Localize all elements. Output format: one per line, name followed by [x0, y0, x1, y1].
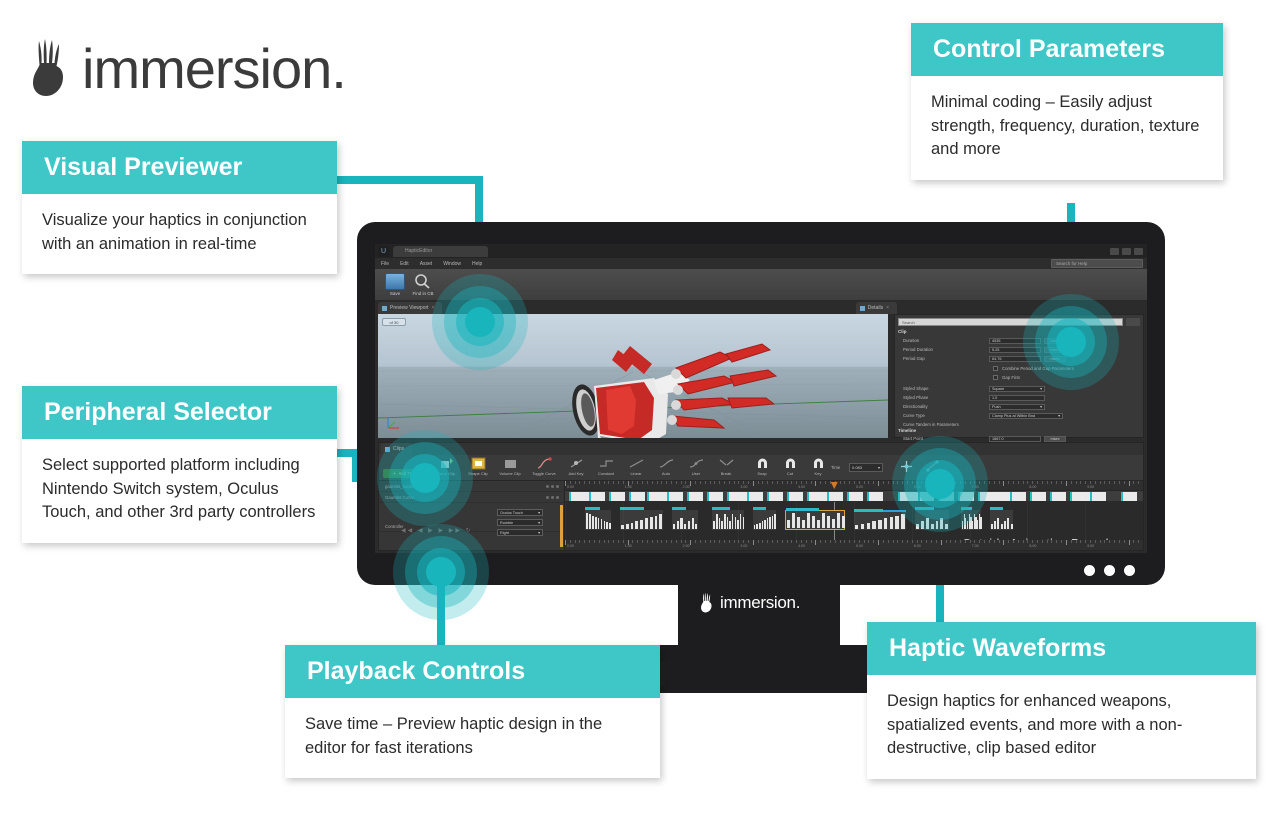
- track-combo-effect-value: Rumble: [500, 521, 513, 525]
- details-row-curve-type[interactable]: Curve Type Clamp Plus at Within Bnd ▾: [903, 412, 1139, 419]
- brand-wordmark: immersion.: [82, 41, 346, 97]
- timeline-event-marker[interactable]: [787, 492, 803, 501]
- ruler-tick: [888, 540, 889, 543]
- waveform-bar: [640, 520, 643, 529]
- ruler-tick: [637, 540, 638, 543]
- timeline-waveform-canvas[interactable]: Outside Animation Bounds: [565, 502, 1143, 540]
- track-options-icon[interactable]: [546, 496, 559, 499]
- ruler-tick: [589, 481, 590, 484]
- timeline-panel[interactable]: Clips ＋ Add Track Event Clip S: [378, 442, 1144, 551]
- ruler-tick: [710, 540, 711, 543]
- ruler-label: 2.00: [683, 544, 690, 548]
- menu-file[interactable]: File: [381, 261, 389, 267]
- waveform-bar: [756, 524, 758, 529]
- ruler-tick: [676, 481, 677, 484]
- tool-auto[interactable]: Auto: [651, 457, 681, 476]
- track-combo-effect[interactable]: Rumble ▾: [497, 519, 543, 526]
- waveform-bar: [994, 521, 996, 529]
- waveform-bar: [772, 516, 774, 529]
- combine-checkbox[interactable]: [993, 366, 998, 371]
- timeline-clip[interactable]: [854, 510, 906, 530]
- clip-accent: [786, 508, 819, 511]
- waveform-bar: [729, 521, 731, 529]
- ruler-tick: [868, 540, 869, 543]
- ruler-tick: [854, 481, 855, 484]
- ruler-tick: [811, 481, 812, 484]
- waveform-bar: [740, 514, 742, 529]
- timeline-event-marker[interactable]: [589, 492, 605, 501]
- track-combo-side[interactable]: Right ▾: [497, 529, 543, 536]
- tool-toggle-curve-label: Toggle Curve: [529, 471, 559, 476]
- ruler-tick: [1076, 481, 1077, 484]
- tool-constant[interactable]: Constant: [591, 457, 621, 476]
- ruler-tick: [1104, 540, 1105, 543]
- ruler-label: 3.00: [740, 544, 747, 548]
- playback-controls-marker[interactable]: [393, 524, 489, 620]
- ruler-tick: [994, 540, 995, 543]
- timeline-clip[interactable]: [990, 510, 1013, 530]
- tool-auto-label: Auto: [651, 471, 681, 476]
- details-value-start-point[interactable]: 1667.0: [989, 436, 1041, 442]
- time-value-input[interactable]: 0.083 ▾: [849, 463, 883, 472]
- tool-linear[interactable]: Linear: [621, 457, 651, 476]
- ruler-tick: [608, 481, 609, 484]
- details-label-curve-type: Curve Type: [903, 413, 989, 418]
- magnifier-icon: [413, 273, 433, 290]
- timeline-ruler-top[interactable]: 0.001.002.003.004.005.006.007.008.009.00: [565, 481, 1143, 491]
- waveform-bar: [713, 521, 715, 529]
- user-icon: [689, 457, 704, 470]
- ruler-tick: [873, 481, 874, 484]
- tool-break[interactable]: Break: [711, 457, 741, 476]
- peripheral-selector-marker[interactable]: [377, 430, 473, 526]
- ruler-tick: [710, 481, 711, 484]
- ruler-tick: [623, 540, 624, 543]
- ruler-tick: [1042, 481, 1043, 484]
- constant-icon: [599, 457, 614, 470]
- ruler-label: 4.00: [798, 485, 805, 489]
- details-combo-styled-shape[interactable]: Square ▾: [989, 386, 1045, 392]
- ruler-tick: [1109, 481, 1110, 484]
- waveform-bar: [812, 516, 815, 527]
- waveform-bar: [822, 513, 825, 528]
- ruler-tick: [1023, 481, 1024, 484]
- timeline-event-marker[interactable]: [629, 492, 645, 501]
- waveform-bar: [626, 524, 629, 529]
- waveform-bar: [1001, 524, 1003, 528]
- ruler-tick: [1018, 540, 1019, 543]
- ruler-tick: [652, 540, 653, 543]
- details-row-curve-tandem[interactable]: Curve Tandem in Parameters: [903, 421, 1139, 428]
- timeline-event-marker[interactable]: [1121, 492, 1137, 501]
- details-section-timeline[interactable]: Timeline: [898, 428, 916, 433]
- ruler-tick: [729, 481, 730, 484]
- tool-key[interactable]: Key: [803, 457, 833, 476]
- timeline-event-marker[interactable]: [1030, 492, 1046, 501]
- ruler-tick: [801, 540, 802, 543]
- ruler-tick: [1114, 481, 1115, 484]
- timeline-event-marker[interactable]: [747, 492, 763, 501]
- ruler-tick: [1085, 540, 1086, 543]
- waveform-bar: [764, 520, 766, 529]
- menu-asset[interactable]: Asset: [420, 261, 433, 267]
- canvas-gridline: [1085, 502, 1086, 540]
- ruler-tick: [613, 540, 614, 543]
- ruler-tick: [657, 481, 658, 484]
- ruler-tick: [782, 540, 783, 543]
- ruler-tick: [666, 481, 667, 484]
- track-accent-bar: [560, 505, 563, 547]
- ruler-label: 8.00: [1029, 544, 1036, 548]
- details-options-icon[interactable]: [1126, 318, 1140, 326]
- close-icon[interactable]: [1134, 248, 1143, 255]
- ruler-label: 6.00: [914, 544, 921, 548]
- haptic-waveforms-marker[interactable]: [892, 436, 988, 532]
- stand-brand-logo: immersion.: [700, 592, 800, 614]
- tool-volume-clip-label: Volume Clip: [495, 471, 525, 476]
- details-section-clip[interactable]: Clip: [898, 329, 907, 334]
- ruler-tick: [1133, 481, 1134, 484]
- ruler-tick: [1037, 481, 1038, 484]
- ruler-tick: [873, 540, 874, 543]
- waveform-bar: [724, 514, 726, 529]
- ruler-tick: [1095, 540, 1096, 543]
- waveform-bar: [842, 516, 845, 528]
- ruler-label: 8.00: [1029, 485, 1036, 489]
- details-value-styled-phase[interactable]: 1.0: [989, 395, 1045, 401]
- ruler-tick: [1008, 481, 1009, 484]
- ruler-tick: [1071, 540, 1072, 543]
- ruler-tick: [671, 540, 672, 543]
- ruler-tick: [787, 540, 788, 543]
- editor-document-tab[interactable]: HapticEditor: [393, 246, 488, 257]
- waveform-bar: [601, 519, 603, 528]
- ruler-tick: [1085, 481, 1086, 484]
- ruler-label: 9.00: [1087, 544, 1094, 548]
- tool-cut-label: Cut: [775, 471, 805, 476]
- shape-clip-icon: [471, 457, 486, 470]
- viewport-axis-gizmo: [386, 414, 402, 430]
- ruler-tick: [1023, 540, 1024, 543]
- tool-linear-label: Linear: [621, 471, 651, 476]
- menu-edit[interactable]: Edit: [400, 261, 409, 267]
- waveform-bar: [606, 522, 608, 529]
- ruler-tick: [758, 540, 759, 543]
- ruler-tick: [897, 540, 898, 543]
- chevron-down-icon: ▾: [538, 530, 540, 535]
- ruler-tick: [575, 481, 576, 484]
- waveform-bar: [688, 521, 690, 529]
- ruler-tick: [1051, 540, 1052, 543]
- details-row-styled-phase[interactable]: Styled Phase 1.0: [903, 394, 1139, 401]
- viewport-tab-icon: [382, 306, 387, 311]
- timeline-toolbar: ＋ Add Track Event Clip Shape Clip: [379, 455, 1143, 481]
- details-row-directionality[interactable]: Directionality Push ▾: [903, 403, 1139, 410]
- timeline-event-marker[interactable]: [667, 492, 683, 501]
- ruler-label: 2.00: [683, 485, 690, 489]
- timeline-event-row[interactable]: [565, 491, 1143, 502]
- ruler-tick: [994, 481, 995, 484]
- details-label-period-duration: Period Duration: [903, 347, 989, 352]
- tool-volume-clip[interactable]: Volume Clip: [495, 457, 525, 476]
- canvas-gridline: [796, 502, 797, 540]
- ruler-tick: [1104, 481, 1105, 484]
- ruler-tick: [681, 540, 682, 543]
- ruler-tick: [599, 481, 600, 484]
- control-parameters-marker[interactable]: [1023, 294, 1119, 390]
- ruler-tick: [753, 481, 754, 486]
- tool-add-key[interactable]: Add Key: [561, 457, 591, 476]
- waveform-bar: [589, 514, 591, 528]
- waveform-bar: [1011, 524, 1013, 528]
- details-combo-directionality[interactable]: Push ▾: [989, 404, 1045, 410]
- save-icon: [385, 273, 405, 290]
- details-tab-close-icon[interactable]: ×: [886, 305, 889, 311]
- magnet-snap-icon: [755, 457, 770, 470]
- waveform-bar: [673, 524, 675, 528]
- waveform-bar: [1004, 521, 1006, 529]
- tool-snap-label: Snap: [747, 471, 777, 476]
- ruler-label: 1.00: [625, 544, 632, 548]
- minimize-icon[interactable]: [1110, 248, 1119, 255]
- gapfirst-checkbox[interactable]: [993, 375, 998, 380]
- ruler-label: 7.00: [972, 544, 979, 548]
- ruler-tick: [840, 540, 841, 543]
- ruler-tick: [1119, 481, 1120, 484]
- ruler-tick: [1066, 481, 1067, 486]
- hand-flame-icon: [700, 592, 714, 614]
- track-options-icon[interactable]: [546, 485, 559, 488]
- ruler-tick: [864, 481, 865, 484]
- ruler-tick: [999, 540, 1000, 543]
- toolbar-save-button[interactable]: Save: [383, 273, 407, 296]
- hand-flame-icon: [30, 38, 70, 100]
- stand-brand-wordmark: immersion.: [720, 593, 800, 613]
- ruler-tick: [883, 481, 884, 484]
- ruler-tick: [1124, 540, 1125, 543]
- timeline-event-marker[interactable]: [1050, 492, 1066, 501]
- canvas-gridline: [623, 502, 624, 540]
- timeline-clip[interactable]: [672, 510, 698, 530]
- tool-user-label: User: [681, 471, 711, 476]
- window-buttons[interactable]: [1110, 248, 1147, 255]
- waveform-bar: [650, 517, 653, 529]
- ruler-tick: [623, 481, 624, 484]
- callout-visual-previewer: Visual Previewer Visualize your haptics …: [22, 141, 337, 274]
- ruler-label: 4.00: [798, 544, 805, 548]
- timeline-event-marker[interactable]: [867, 492, 883, 501]
- ruler-tick: [767, 481, 768, 484]
- ruler-tick: [570, 481, 571, 484]
- ruler-tick: [844, 481, 845, 484]
- callout-haptic-waveforms-title: Haptic Waveforms: [867, 622, 1256, 675]
- waveform-bar: [604, 521, 606, 529]
- tool-cut[interactable]: Cut: [775, 457, 805, 476]
- details-unit-start-point: msec: [1044, 436, 1066, 442]
- ruler-tick: [1027, 481, 1028, 484]
- ruler-tick: [791, 481, 792, 484]
- ruler-tick: [791, 540, 792, 543]
- ruler-tick: [835, 540, 836, 543]
- ruler-tick: [748, 540, 749, 543]
- visual-previewer-marker[interactable]: [432, 274, 528, 370]
- ruler-tick: [1047, 481, 1048, 484]
- timeline-event-marker[interactable]: [707, 492, 723, 501]
- ruler-tick: [859, 481, 860, 484]
- timeline-event-marker[interactable]: [1010, 492, 1026, 501]
- details-combo-directionality-value: Push: [992, 405, 1001, 409]
- ruler-tick: [1090, 481, 1091, 484]
- ruler-tick: [661, 540, 662, 543]
- timeline-clip[interactable]: [753, 510, 776, 530]
- canvas-gridline: [565, 502, 566, 540]
- ruler-tick: [1080, 540, 1081, 543]
- timeline-event-marker[interactable]: [767, 492, 783, 501]
- ruler-tick: [815, 481, 816, 486]
- ruler-tick: [700, 540, 701, 543]
- ruler-tick: [657, 540, 658, 543]
- viewport-view-button[interactable]: of 30: [382, 318, 406, 326]
- ruler-tick: [1008, 540, 1009, 543]
- ruler-tick: [734, 540, 735, 543]
- tool-user[interactable]: User: [681, 457, 711, 476]
- timeline-event-marker[interactable]: [847, 492, 863, 501]
- track-combo-platform[interactable]: Oculus Touch ▾: [497, 509, 543, 516]
- timeline-ruler-bottom[interactable]: 0.001.002.003.004.005.006.007.008.009.00: [565, 540, 1143, 550]
- bezel-dot-3: [1124, 565, 1135, 576]
- waveform-bar: [759, 523, 761, 529]
- ruler-tick: [960, 540, 961, 543]
- ruler-tick: [738, 540, 739, 543]
- timeline-clip[interactable]: [585, 510, 611, 530]
- ruler-tick: [825, 540, 826, 543]
- toggle-curve-icon: [537, 457, 552, 470]
- menu-help[interactable]: Help: [472, 261, 482, 267]
- ruler-label: 5.00: [856, 485, 863, 489]
- ruler-label: 5.00: [856, 544, 863, 548]
- ruler-tick: [772, 540, 773, 543]
- waveform-bar: [727, 517, 729, 528]
- ruler-tick: [974, 540, 975, 543]
- waveform-bar: [692, 518, 694, 529]
- details-tab[interactable]: Details ×: [856, 302, 897, 314]
- callout-playback-controls-body: Save time – Preview haptic design in the…: [285, 698, 660, 778]
- ruler-tick: [1061, 481, 1062, 484]
- ruler-tick: [1042, 540, 1043, 543]
- playhead-handle[interactable]: [831, 482, 838, 489]
- timeline-event-marker[interactable]: [827, 492, 843, 501]
- timeline-event-marker[interactable]: [1090, 492, 1106, 501]
- ruler-tick: [604, 481, 605, 484]
- tool-toggle-curve[interactable]: Toggle Curve: [529, 457, 559, 476]
- callout-peripheral-selector-title: Peripheral Selector: [22, 386, 337, 439]
- ruler-tick: [806, 481, 807, 484]
- editor-menubar[interactable]: File Edit Asset Window Help: [375, 258, 1147, 269]
- ruler-tick: [589, 540, 590, 543]
- details-combo-curve-type-value: Clamp Plus at Within Bnd: [992, 414, 1035, 418]
- waveform-bar: [719, 518, 721, 529]
- ruler-tick: [1047, 540, 1048, 543]
- waveform-bar: [1007, 518, 1009, 529]
- ruler-tick: [647, 540, 648, 543]
- ruler-tick: [705, 481, 706, 484]
- timeline-clip[interactable]: [785, 510, 846, 530]
- ruler-tick: [743, 540, 744, 543]
- timeline-clip[interactable]: [620, 510, 663, 530]
- ruler-tick: [767, 540, 768, 543]
- toolbar-find-label: Find in CB: [411, 291, 435, 296]
- ruler-tick: [796, 540, 797, 543]
- ruler-tick: [1109, 540, 1110, 543]
- details-tab-icon: [860, 306, 865, 311]
- details-combo-curve-type[interactable]: Clamp Plus at Within Bnd ▾: [989, 413, 1063, 419]
- waveform-bar: [890, 517, 893, 529]
- waveform-bar: [677, 521, 679, 529]
- callout-control-parameters-title: Control Parameters: [911, 23, 1223, 76]
- ruler-tick: [608, 540, 609, 543]
- ruler-tick: [632, 540, 633, 543]
- ruler-tick: [594, 481, 595, 484]
- waveform-bar: [635, 521, 638, 529]
- canvas-gridline: [1027, 502, 1028, 540]
- waveform-bar: [769, 517, 771, 529]
- details-row-styled-shape[interactable]: Styled Shape Square ▾: [903, 385, 1139, 392]
- ruler-label: 3.00: [740, 485, 747, 489]
- details-label-period-gap: Period Gap: [903, 356, 989, 361]
- ruler-tick: [950, 540, 951, 543]
- waveform-bar: [802, 520, 805, 528]
- ruler-tick: [902, 540, 903, 543]
- callout-playback-controls-title: Playback Controls: [285, 645, 660, 698]
- ruler-tick: [685, 540, 686, 543]
- ruler-tick: [1090, 540, 1091, 543]
- waveform-bar: [767, 518, 769, 528]
- timeline-event-marker[interactable]: [687, 492, 703, 501]
- tool-snap[interactable]: Snap: [747, 457, 777, 476]
- ruler-label: 0.00: [567, 485, 574, 489]
- ruler-tick: [618, 540, 619, 543]
- ruler-tick: [632, 481, 633, 484]
- toolbar-find-button[interactable]: Find in CB: [411, 273, 435, 296]
- ruler-tick: [912, 540, 913, 543]
- ruler-tick: [604, 540, 605, 543]
- callout-visual-previewer-body: Visualize your haptics in conjunction wi…: [22, 194, 337, 274]
- ruler-tick: [1124, 481, 1125, 484]
- maximize-icon[interactable]: [1122, 248, 1131, 255]
- waveform-bar: [884, 518, 887, 528]
- linear-icon: [629, 457, 644, 470]
- ruler-tick: [724, 481, 725, 484]
- menu-window[interactable]: Window: [443, 261, 461, 267]
- ruler-tick: [878, 540, 879, 545]
- help-search-input[interactable]: Search for Help: [1051, 259, 1143, 268]
- ruler-tick: [840, 481, 841, 484]
- ruler-tick: [738, 481, 739, 484]
- ruler-tick: [719, 481, 720, 484]
- waveform-bar: [817, 520, 820, 528]
- waveform-bar: [735, 517, 737, 529]
- clip-accent: [585, 507, 599, 510]
- chevron-down-icon: ▾: [1058, 413, 1060, 418]
- ruler-tick: [1032, 540, 1033, 543]
- waveform-bar: [595, 517, 597, 529]
- robot-hand-model: [526, 328, 826, 438]
- ruler-tick: [570, 540, 571, 543]
- timeline-event-marker[interactable]: [609, 492, 625, 501]
- ruler-tick: [642, 481, 643, 484]
- clip-accent: [753, 507, 766, 510]
- ruler-tick: [714, 540, 715, 543]
